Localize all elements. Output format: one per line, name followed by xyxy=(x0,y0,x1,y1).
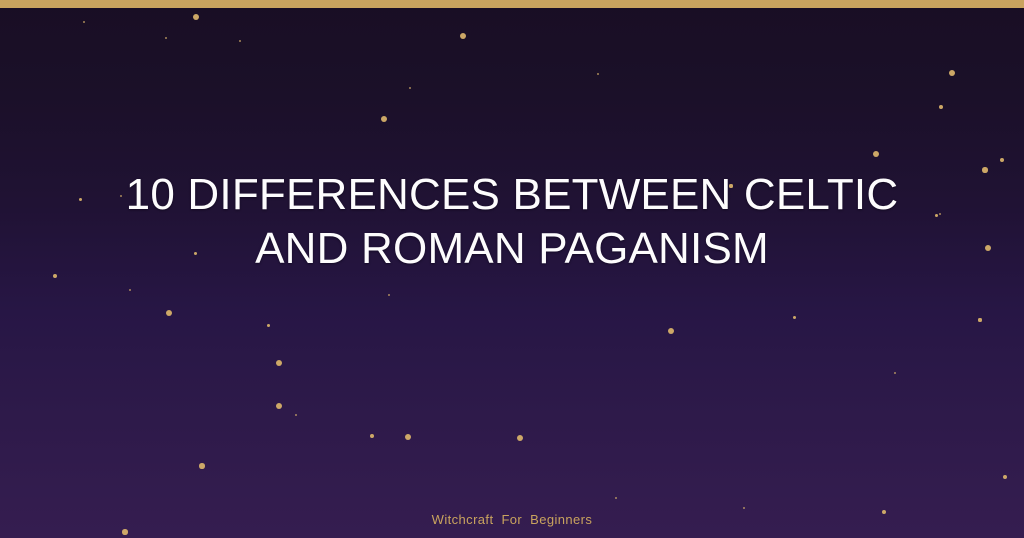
star-dot xyxy=(409,87,412,90)
star-dot xyxy=(460,33,466,39)
star-dot xyxy=(793,316,796,319)
star-dot xyxy=(122,529,127,534)
star-dot xyxy=(381,116,387,122)
slide-title: 10 DIFFERENCES BETWEEN CELTIC AND ROMAN … xyxy=(0,168,1024,276)
star-dot xyxy=(894,372,897,375)
star-dot xyxy=(1003,475,1007,479)
decorative-gold-bar xyxy=(0,0,1024,8)
star-dot xyxy=(517,435,523,441)
star-dot xyxy=(267,324,270,327)
footer-brand-label: Witchcraft For Beginners xyxy=(0,512,1024,527)
star-dot xyxy=(165,37,168,40)
star-dot xyxy=(405,434,411,440)
star-dot xyxy=(668,328,675,335)
star-dot xyxy=(743,507,746,510)
presentation-slide: 10 DIFFERENCES BETWEEN CELTIC AND ROMAN … xyxy=(0,0,1024,538)
star-dot xyxy=(873,151,879,157)
star-dot xyxy=(1000,158,1004,162)
star-dot xyxy=(370,434,374,438)
star-dot xyxy=(939,105,943,109)
star-dot xyxy=(276,360,282,366)
star-dot xyxy=(597,73,599,75)
star-dot xyxy=(193,14,199,20)
star-dot xyxy=(295,414,297,416)
star-dot xyxy=(199,463,204,468)
star-dot xyxy=(83,21,85,23)
star-dot xyxy=(949,70,956,77)
star-dot xyxy=(166,310,172,316)
star-dot xyxy=(276,403,282,409)
star-dot xyxy=(129,289,131,291)
star-dot xyxy=(239,40,242,43)
star-dot xyxy=(615,497,617,499)
star-dot xyxy=(978,318,981,321)
star-dot xyxy=(388,294,391,297)
